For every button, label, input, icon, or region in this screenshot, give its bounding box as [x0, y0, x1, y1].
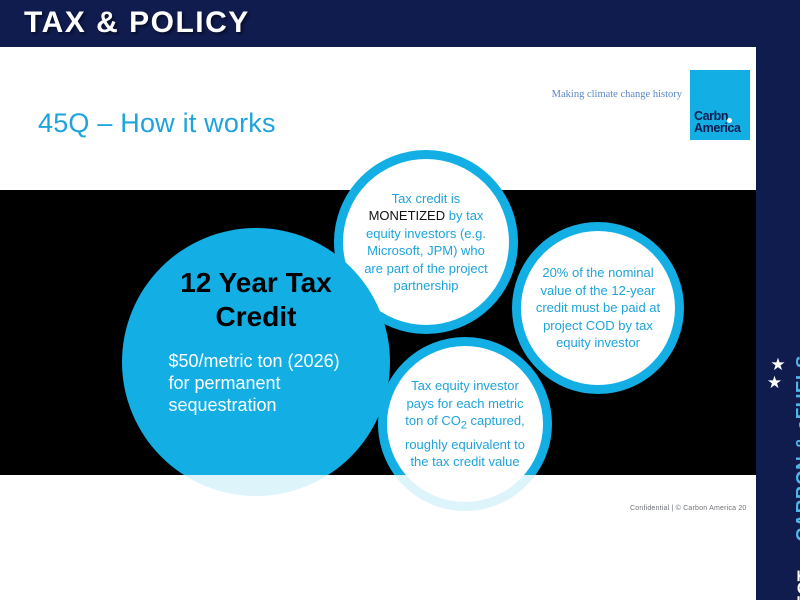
brand-tagline: Making climate change history [530, 88, 682, 102]
star-icon-1: ★ [762, 356, 794, 373]
star-icon-2: ★ [755, 374, 794, 391]
carbon-america-logo: Carbn America [690, 70, 750, 140]
circle-main-heading: 12 Year Tax Credit [156, 266, 356, 334]
circle-main-subtext: $50/metric ton (2026) for permanent sequ… [169, 350, 344, 416]
logo-line-2: America [694, 122, 741, 134]
circle-tax-equity-pays: Tax equity investor pays for each metric… [378, 337, 552, 511]
sidebar-connect-label: CONNECT [794, 570, 800, 600]
header-title: TAX & POLICY [24, 6, 250, 40]
lower-white-band [0, 475, 756, 600]
circle-tax-equity-pays-text: Tax equity investor pays for each metric… [401, 377, 529, 470]
circle-monetized-before: Tax credit is [392, 191, 461, 206]
circle-monetized-text: Tax credit is MONETIZED by tax equity in… [361, 190, 491, 295]
logo-wordmark: Carbn America [694, 110, 741, 134]
sidebar-stars: ★ ★ [762, 356, 794, 404]
slide-canvas: 45Q – How it works Making climate change… [0, 0, 800, 600]
page-title: 45Q – How it works [38, 108, 276, 139]
event-sidebar: CARBON & eFUELS ★ ★ ABLCCONNECT [756, 0, 800, 600]
logo-dot-icon [727, 118, 732, 123]
confidential-footer: Confidential | © Carbon America 20 [630, 505, 747, 512]
circle-nominal-value: 20% of the nominal value of the 12-year … [512, 222, 684, 394]
circle-nominal-value-text: 20% of the nominal value of the 12-year … [534, 264, 662, 352]
circle-monetized-emphasis: MONETIZED [369, 208, 446, 223]
sidebar-carbon-efuels-label: CARBON & eFUELS [794, 355, 800, 542]
header-bar: TAX & POLICY [0, 0, 756, 47]
sidebar-ablc-connect-label: ABLCCONNECT [794, 570, 800, 600]
circle-12-year-tax-credit: 12 Year Tax Credit $50/metric ton (2026)… [122, 228, 390, 496]
